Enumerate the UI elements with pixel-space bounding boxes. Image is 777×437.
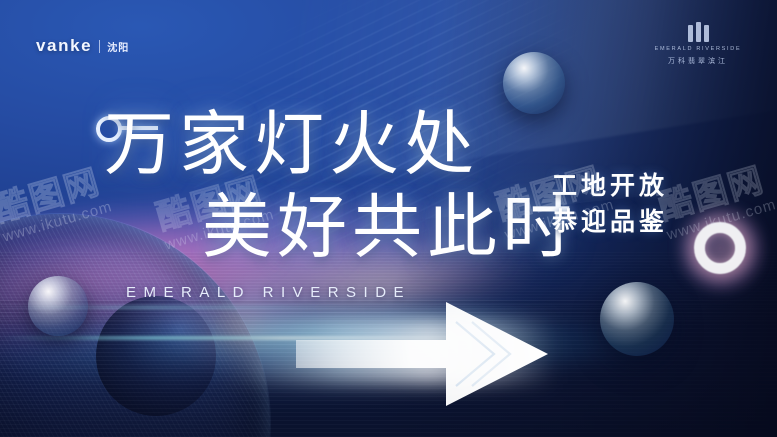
pearl-sphere-right <box>600 282 674 356</box>
side-message-line-1: 工地开放 <box>552 172 668 202</box>
arrow-group <box>296 296 558 412</box>
subtitle-english: EMERALD RIVERSIDE <box>126 284 411 301</box>
headline-block: 万家灯火处 美好共此时 <box>104 112 574 263</box>
project-logo[interactable]: EMERALD RIVERSIDE 万科翡翠滨江 <box>643 22 753 66</box>
side-message-line-2: 恭迎品鉴 <box>552 208 668 238</box>
pillars-mark-icon <box>688 22 709 42</box>
arrow-motion-glow <box>226 318 556 384</box>
project-logo-chinese: 万科翡翠滨江 <box>668 56 728 66</box>
pearl-sphere-top <box>503 52 565 114</box>
brand-lockup[interactable]: vanke 沈阳 <box>36 36 129 56</box>
pearl-sphere-left <box>28 276 88 336</box>
headline-line-2: 美好共此时 <box>202 195 574 264</box>
brand-divider <box>99 40 100 53</box>
brand-city: 沈阳 <box>107 39 129 54</box>
poster-canvas: vanke 沈阳 EMERALD RIVERSIDE 万科翡翠滨江 万家灯火处 … <box>0 0 777 437</box>
headline-line-1: 万家灯火处 <box>104 112 574 181</box>
side-message: 工地开放 恭迎品鉴 <box>552 172 668 237</box>
brand-name: vanke <box>36 36 92 56</box>
glowing-ring-icon <box>694 222 746 274</box>
project-logo-english: EMERALD RIVERSIDE <box>655 46 742 52</box>
